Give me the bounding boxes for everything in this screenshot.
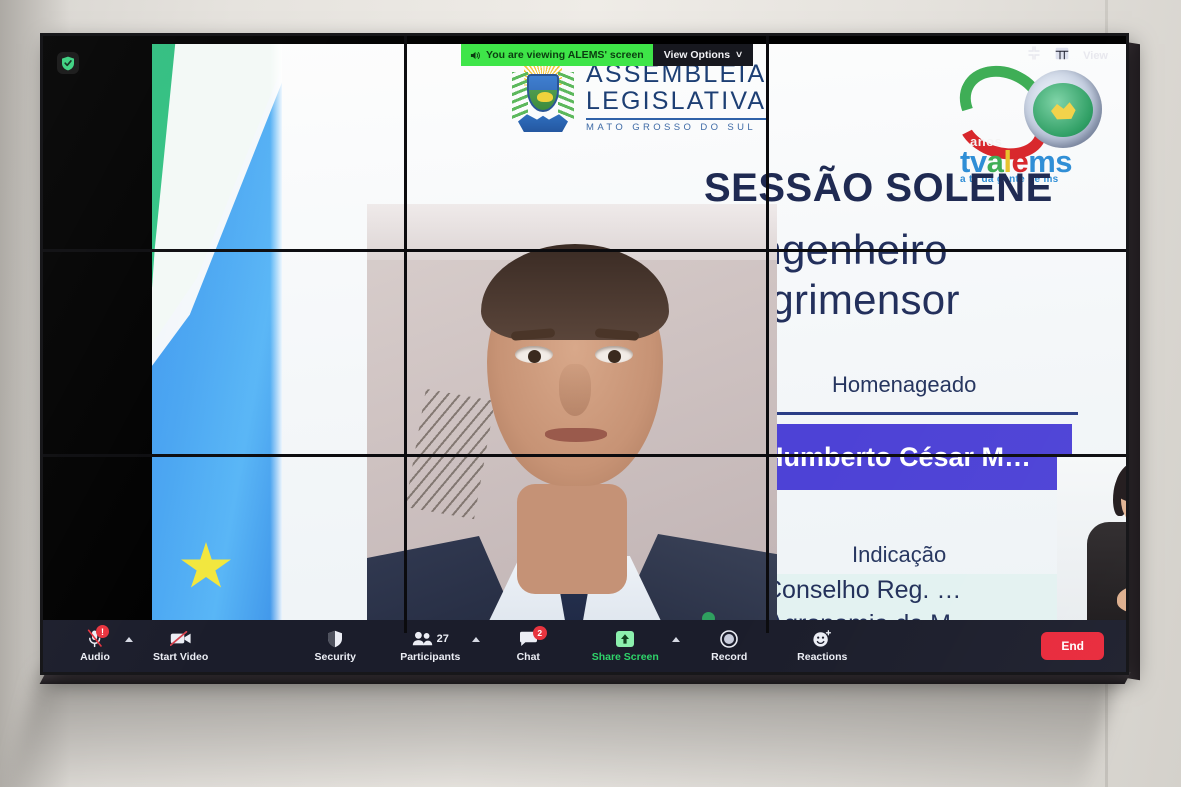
share-screen-label: Share Screen	[592, 651, 659, 663]
chat-unread-badge: 2	[533, 626, 547, 640]
security-button[interactable]: Security	[304, 620, 366, 672]
crest-wheat-left	[512, 72, 528, 120]
slide-divider	[752, 412, 1078, 415]
start-video-button[interactable]: Start Video	[153, 620, 208, 672]
audio-options-caret[interactable]	[125, 637, 133, 642]
speaker-pupil-left	[528, 350, 541, 363]
slide-organization-line-1: Conselho Reg. …	[764, 576, 961, 605]
chevron-down-icon: ˅	[736, 49, 742, 61]
alems-line-3: MATO GROSSO DO SUL	[586, 123, 766, 133]
share-status-pill: You are viewing ALEMS' screen View Optio…	[461, 44, 753, 66]
zoom-window: ASSEMBLEIA LEGISLATIVA MATO GROSSO DO SU…	[43, 36, 1126, 672]
view-options-button[interactable]: View Options ˅	[653, 44, 753, 66]
smiley-plus-icon	[812, 629, 832, 648]
alems-line-2: LEGISLATIVA	[586, 89, 766, 114]
alems-wordmark: ASSEMBLEIA LEGISLATIVA MATO GROSSO DO SU…	[586, 62, 766, 133]
chat-button[interactable]: 2 Chat	[500, 620, 556, 672]
share-screen-options-caret[interactable]	[672, 637, 680, 642]
shield-check-icon[interactable]	[57, 52, 79, 74]
people-icon: 27	[412, 629, 449, 648]
minimize-icon[interactable]	[1027, 46, 1041, 65]
bezel-vertical-1	[404, 36, 407, 633]
speaker-nose	[559, 364, 591, 416]
audio-label: Audio	[80, 651, 110, 663]
bezel-horizontal-2	[43, 454, 1126, 457]
speaker-neck	[517, 484, 627, 594]
bezel-horizontal-1	[43, 249, 1126, 252]
crest-shield	[527, 74, 559, 112]
participants-label: Participants	[400, 651, 460, 663]
microphone-muted-icon: !	[87, 629, 103, 648]
videowall-right-edge	[1126, 42, 1140, 680]
zoom-toolbar: ! Audio Start Video	[43, 620, 1126, 672]
flag-edge-fade	[270, 44, 282, 627]
camera-off-icon	[170, 629, 192, 648]
share-screen-button[interactable]: Share Screen	[582, 620, 668, 672]
view-options-label: View Options	[664, 49, 730, 61]
speaker-mouth	[545, 428, 607, 442]
chat-label: Chat	[517, 651, 540, 663]
speaker-pupil-right	[608, 350, 621, 363]
crest-wheat-right	[558, 72, 574, 120]
speaker-icon	[470, 50, 481, 61]
sign-language-interpreter-video-tile[interactable]	[1057, 454, 1126, 641]
crest-hands	[518, 114, 568, 132]
speaker-video-tile[interactable]	[367, 204, 777, 641]
bezel-vertical-2	[766, 36, 769, 633]
end-meeting-button[interactable]: End	[1041, 632, 1104, 660]
toolbar-right-group: End	[1041, 632, 1126, 660]
reactions-button[interactable]: Reactions	[786, 620, 858, 672]
slide-indication-label: Indicação	[852, 542, 946, 568]
ms-state-crest-icon	[512, 62, 574, 132]
toolbar-center-group: Security 27 Participants	[304, 620, 858, 672]
participants-options-caret[interactable]	[472, 637, 480, 642]
slide-honoree-label: Homenageado	[832, 372, 976, 398]
record-circle-icon	[720, 629, 738, 648]
security-label: Security	[315, 651, 356, 663]
slide-honoree-band: Humberto César M…	[752, 424, 1072, 490]
chat-bubble-icon: 2	[519, 629, 538, 648]
slide-honoree-name: Humberto César M…	[752, 442, 1031, 473]
audio-alert-badge: !	[96, 625, 109, 638]
audio-button[interactable]: ! Audio	[69, 620, 121, 672]
globe-icon	[1024, 70, 1102, 148]
share-status-text: You are viewing ALEMS' screen	[486, 49, 644, 61]
reactions-label: Reactions	[797, 651, 847, 663]
share-status-banner: You are viewing ALEMS' screen	[461, 44, 653, 66]
mato-grosso-do-sul-flag	[152, 44, 282, 627]
start-video-label: Start Video	[153, 651, 208, 663]
wall-shading-bottom	[0, 668, 1120, 787]
alems-rule	[586, 118, 766, 120]
presentation-slide: ASSEMBLEIA LEGISLATIVA MATO GROSSO DO SU…	[152, 44, 1126, 627]
participants-count: 27	[437, 633, 449, 645]
videowall-bottom-edge	[40, 672, 1131, 684]
toolbar-left-group: ! Audio Start Video	[43, 620, 208, 672]
zoom-top-right-controls: View	[1027, 46, 1108, 65]
videowall-display: ASSEMBLEIA LEGISLATIVA MATO GROSSO DO SU…	[43, 36, 1126, 672]
tvalems-logo: anos tvalems a tv da gente de ms	[952, 58, 1110, 176]
room-scene: ASSEMBLEIA LEGISLATIVA MATO GROSSO DO SU…	[0, 0, 1181, 787]
view-label[interactable]: View	[1083, 50, 1108, 62]
shared-screen-region: ASSEMBLEIA LEGISLATIVA MATO GROSSO DO SU…	[43, 36, 1126, 633]
shield-icon	[327, 629, 343, 648]
share-up-arrow-icon	[615, 629, 635, 648]
record-button[interactable]: Record	[698, 620, 760, 672]
record-label: Record	[711, 651, 747, 663]
alems-logo: ASSEMBLEIA LEGISLATIVA MATO GROSSO DO SU…	[512, 62, 766, 133]
grid-view-icon[interactable]	[1055, 47, 1069, 65]
